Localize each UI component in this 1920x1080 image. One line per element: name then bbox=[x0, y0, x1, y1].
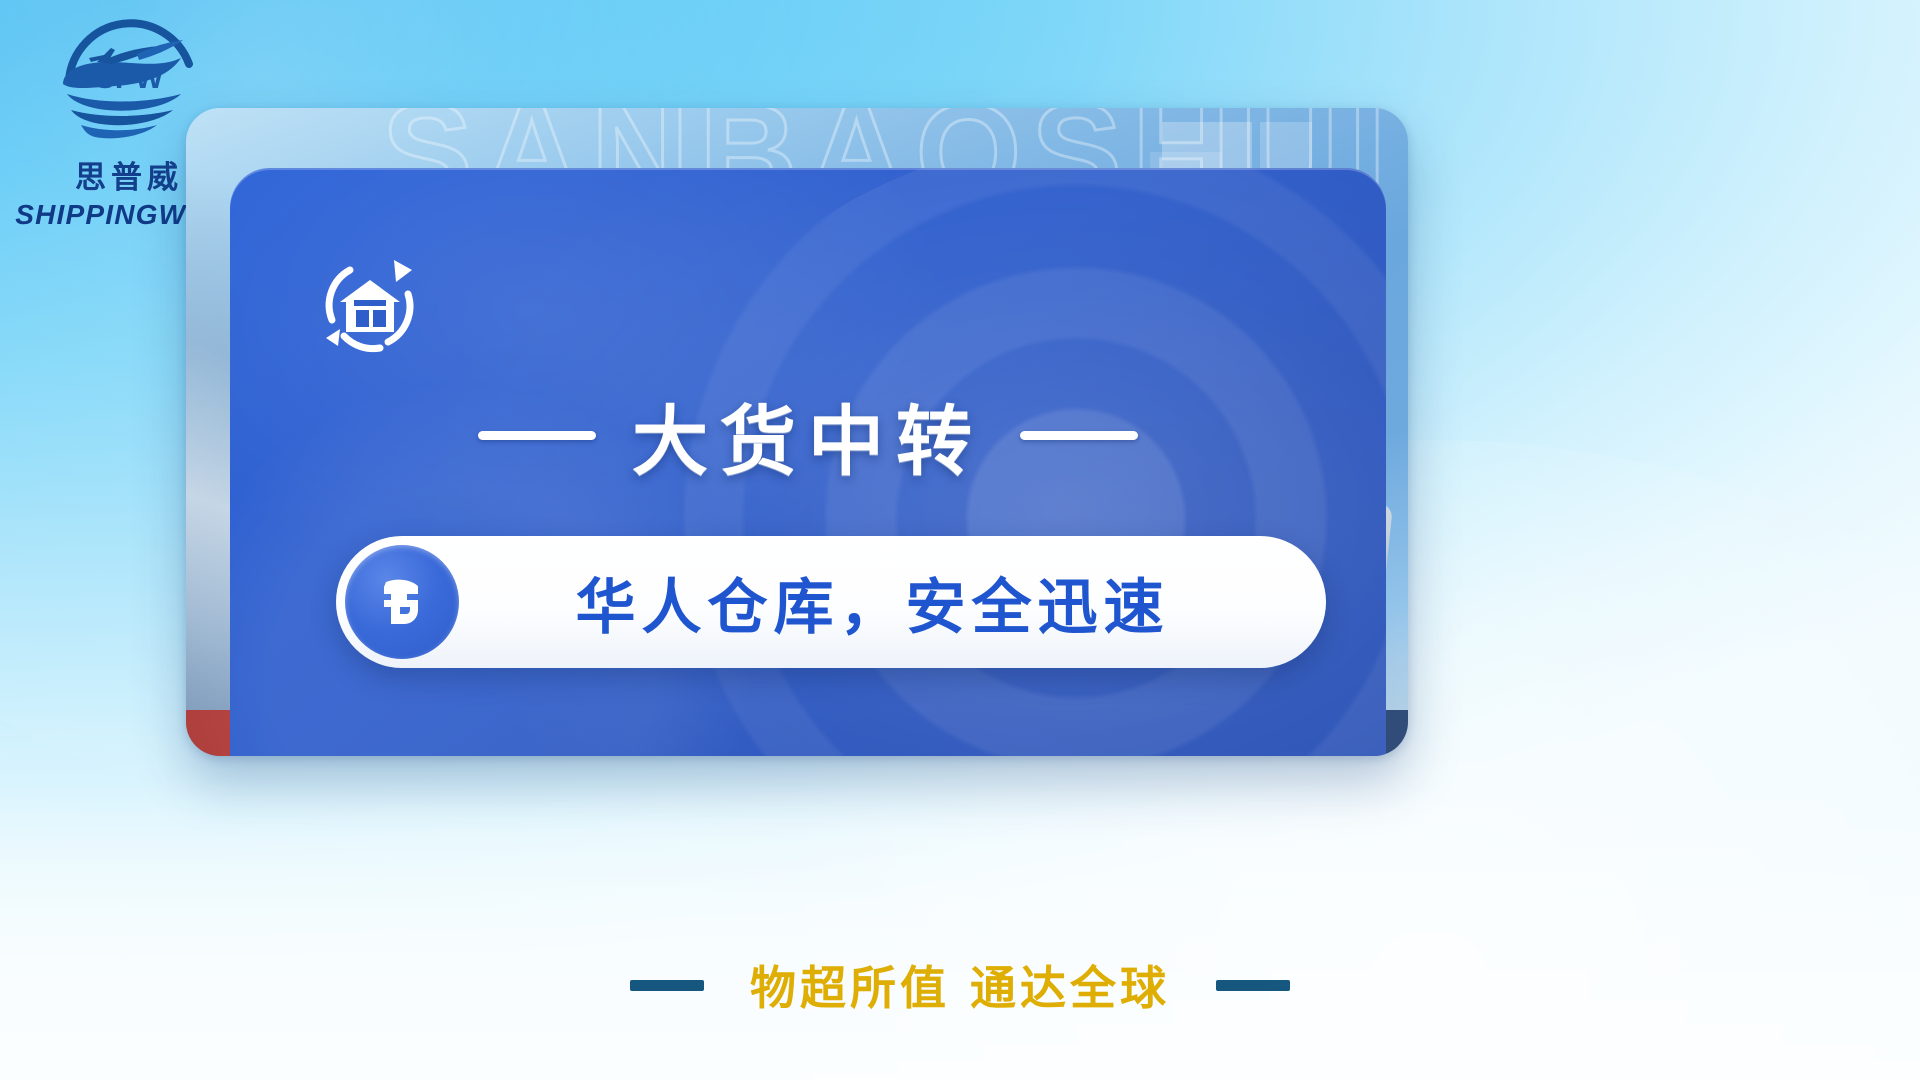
cargo-glyph-svg bbox=[366, 566, 438, 638]
headline-row: 大货中转 bbox=[230, 380, 1386, 490]
warehouse-cycle-icon bbox=[314, 250, 426, 362]
promo-banner: SPW 思普威® SHIPPINGWELL SANBAOSHUI bbox=[0, 0, 1920, 1080]
card-inner-panel: 大货中转 华人仓库，安全迅速 bbox=[230, 168, 1386, 756]
card-headline: 大货中转 bbox=[632, 380, 984, 490]
cargo-glyph-icon bbox=[345, 545, 459, 659]
background-bottom-sheen bbox=[0, 780, 1920, 1080]
feature-pill-text: 华人仓库，安全迅速 bbox=[459, 559, 1326, 646]
tagline-dash-right bbox=[1216, 980, 1290, 991]
tagline-text: 物超所值 通达全球 bbox=[750, 952, 1170, 1018]
headline-dash-left bbox=[478, 431, 596, 440]
tagline-dash-left bbox=[630, 980, 704, 991]
brand-name-cn-text: 思普威 bbox=[75, 160, 183, 196]
headline-dash-right bbox=[1020, 431, 1138, 440]
feature-pill[interactable]: 华人仓库，安全迅速 bbox=[336, 536, 1326, 668]
promo-card: SANBAOSHUI 大货中转 bbox=[186, 108, 1408, 756]
bottom-tagline: 物超所值 通达全球 bbox=[0, 952, 1920, 1018]
svg-text:SPW: SPW bbox=[95, 62, 164, 95]
